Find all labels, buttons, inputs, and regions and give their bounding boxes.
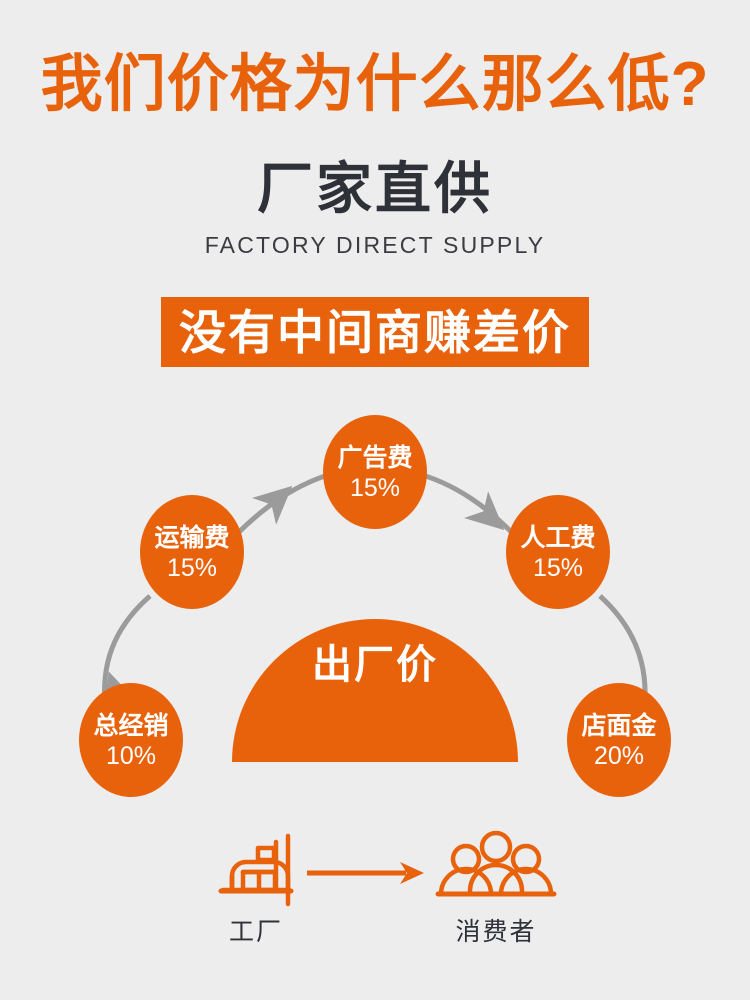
node-percent: 15%	[350, 474, 400, 502]
cost-flow-diagram: 出厂价 总经销 10% 运输费 15% 广告费 15%	[0, 400, 750, 810]
highlight-banner: 没有中间商赚差价	[161, 297, 589, 367]
node-circle	[79, 683, 183, 797]
supply-chain-svg: 工厂 消费者	[0, 828, 750, 978]
node-circle	[323, 415, 427, 529]
node-name: 广告费	[337, 443, 412, 472]
factory-price-label: 出厂价	[312, 643, 438, 687]
node-percent: 20%	[594, 742, 644, 770]
highlight-banner-text: 没有中间商赚差价	[179, 309, 571, 356]
subtitle-chinese: 厂家直供	[0, 160, 750, 219]
node-labor-fee: 人工费 15%	[506, 495, 610, 609]
node-name: 总经销	[93, 711, 168, 740]
node-circle	[506, 495, 610, 609]
node-circle	[567, 683, 671, 797]
node-storefront-fee: 店面金 20%	[567, 683, 671, 797]
factory-label: 工厂	[229, 918, 283, 946]
node-transport-fee: 运输费 15%	[140, 495, 244, 609]
consumer-label: 消费者	[455, 918, 536, 946]
node-percent: 15%	[167, 554, 217, 582]
factory-price-dome	[232, 619, 518, 762]
node-circle	[140, 495, 244, 609]
node-general-distributor: 总经销 10%	[79, 683, 183, 797]
cost-flow-svg: 出厂价 总经销 10% 运输费 15% 广告费 15%	[0, 400, 750, 810]
right-arrow-icon	[307, 862, 424, 884]
infographic-page: 我们价格为什么那么低? 厂家直供 FACTORY DIRECT SUPPLY 没…	[0, 0, 750, 1000]
node-percent: 10%	[106, 742, 156, 770]
node-advertising-fee: 广告费 15%	[323, 415, 427, 529]
node-name: 运输费	[154, 523, 229, 552]
subtitle-english: FACTORY DIRECT SUPPLY	[0, 232, 750, 259]
node-percent: 15%	[533, 554, 583, 582]
arrow-head-2-icon	[252, 473, 304, 525]
node-name: 店面金	[581, 711, 657, 740]
page-title: 我们价格为什么那么低?	[0, 52, 750, 117]
factory-icon	[221, 836, 291, 904]
consumers-icon	[438, 833, 554, 894]
node-name: 人工费	[520, 524, 595, 552]
supply-chain-footer: 工厂 消费者	[0, 828, 750, 978]
